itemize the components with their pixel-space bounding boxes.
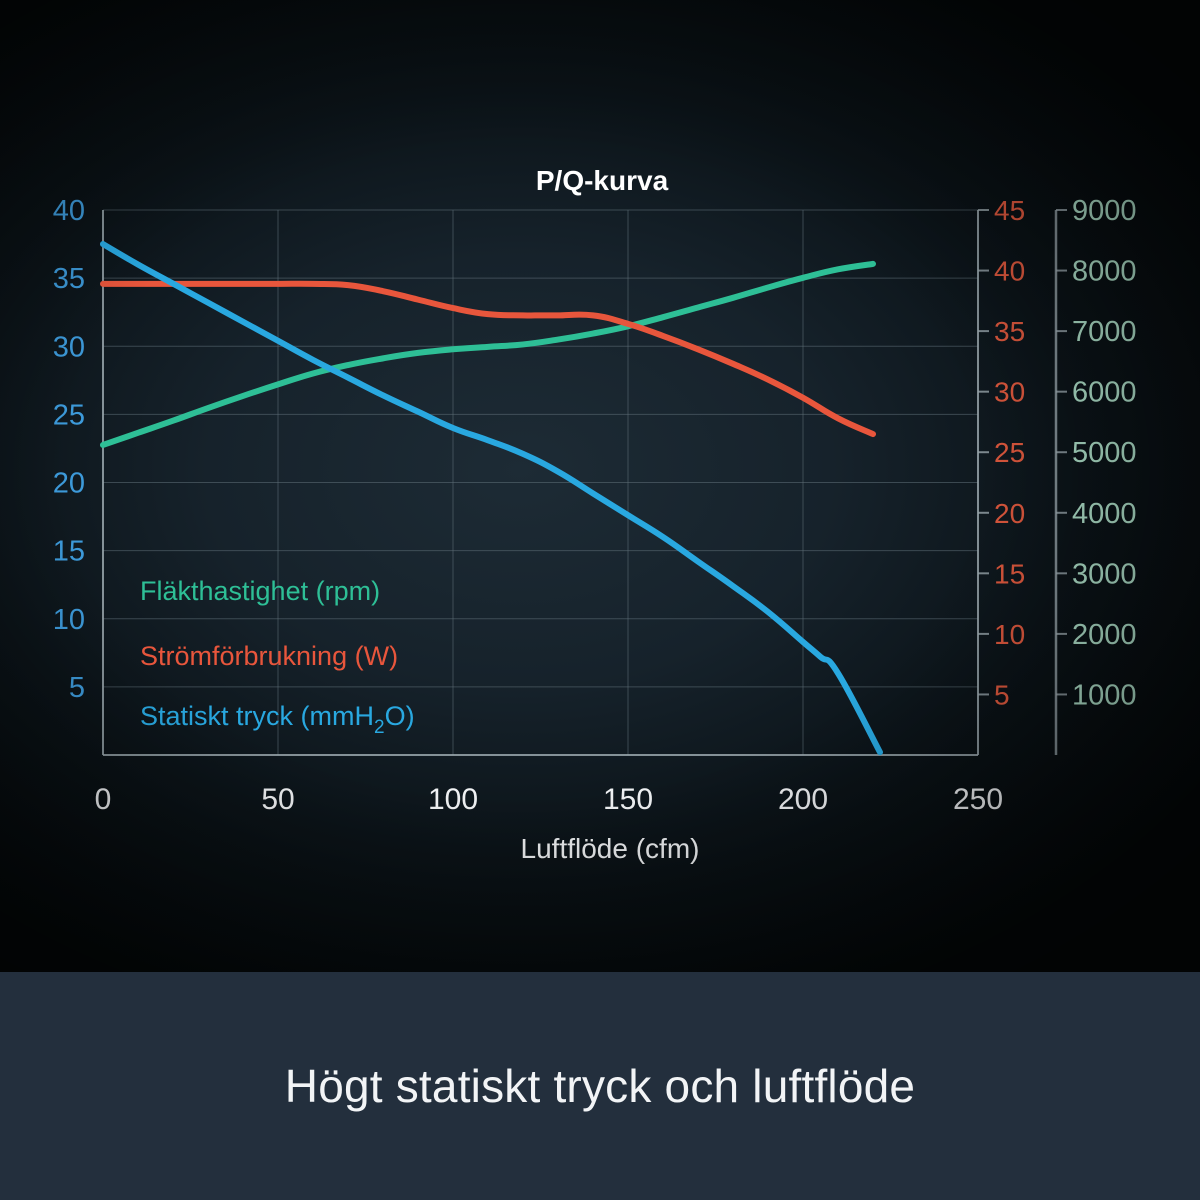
chart-legend: Fläkthastighet (rpm)Strömförbrukning (W)… (140, 576, 415, 738)
x-tick-label: 250 (953, 783, 1003, 816)
x-tick-label: 150 (603, 783, 653, 816)
left-axis-tick-label: 5 (69, 672, 85, 704)
right-axis-tick-label: 4000 (1072, 498, 1137, 530)
right-axis-tick-label: 7000 (1072, 316, 1137, 348)
left-axis-tick-label: 15 (53, 536, 85, 568)
left-axis-tick-label: 10 (53, 604, 85, 636)
legend-label-left: Statiskt tryck (mmH2O) (140, 701, 415, 738)
caption-text: Högt statiskt tryck och luftflöde (285, 1059, 915, 1113)
data-series (103, 244, 880, 752)
chart-panel: P/Q-kurva 050100150200250 51015202530354… (0, 0, 1200, 972)
legend-label-middle: Strömförbrukning (W) (140, 641, 398, 671)
left-axis-tick-label: 30 (53, 331, 85, 363)
middle-axis-tick-label: 25 (994, 437, 1025, 468)
chart-page: P/Q-kurva 050100150200250 51015202530354… (0, 0, 1200, 1200)
caption-bar: Högt statiskt tryck och luftflöde (0, 972, 1200, 1200)
x-tick-label: 200 (778, 783, 828, 816)
left-axis-tick-label: 35 (53, 263, 85, 295)
right-axis-tick-label: 9000 (1072, 195, 1137, 227)
legend-label-outer: Fläkthastighet (rpm) (140, 576, 380, 606)
left-axis-ticks: 510152025303540 (53, 195, 85, 704)
middle-axis-tick-label: 15 (994, 558, 1025, 589)
right-axis-tick-label: 8000 (1072, 256, 1137, 288)
left-axis-tick-label: 25 (53, 399, 85, 431)
pq-curve-chart: P/Q-kurva 050100150200250 51015202530354… (0, 0, 1200, 972)
x-tick-label: 100 (428, 783, 478, 816)
x-axis-ticks: 050100150200250 (95, 783, 1003, 816)
left-axis-tick-label: 40 (53, 195, 85, 227)
x-tick-label: 0 (95, 783, 112, 816)
middle-axis-tick-label: 20 (994, 498, 1025, 529)
right-axis-tick-label: 3000 (1072, 558, 1137, 590)
series-line-outer (103, 264, 873, 445)
x-tick-label: 50 (261, 783, 294, 816)
middle-axis-tick-label: 40 (994, 256, 1025, 287)
middle-axis-tick-label: 5 (994, 679, 1010, 710)
chart-title: P/Q-kurva (536, 165, 669, 196)
right-axis-tick-label: 6000 (1072, 377, 1137, 409)
middle-axis-tick-label: 35 (994, 316, 1025, 347)
middle-axis-tick-label: 30 (994, 377, 1025, 408)
middle-axis-tick-label: 45 (994, 195, 1025, 226)
right-axis-tick-label: 2000 (1072, 619, 1137, 651)
right-axis-tick-label: 5000 (1072, 437, 1137, 469)
middle-axis-tick-label: 10 (994, 619, 1025, 650)
left-axis-tick-label: 20 (53, 468, 85, 500)
x-axis-title: Luftflöde (cfm) (521, 833, 700, 864)
right-axis-tick-label: 1000 (1072, 679, 1137, 711)
right-axis-ticks: 100020003000400050006000700080009000 (1072, 195, 1137, 711)
middle-axis-ticks: 51015202530354045 (994, 195, 1025, 710)
series-line-left (103, 244, 880, 752)
gridlines (103, 210, 978, 755)
